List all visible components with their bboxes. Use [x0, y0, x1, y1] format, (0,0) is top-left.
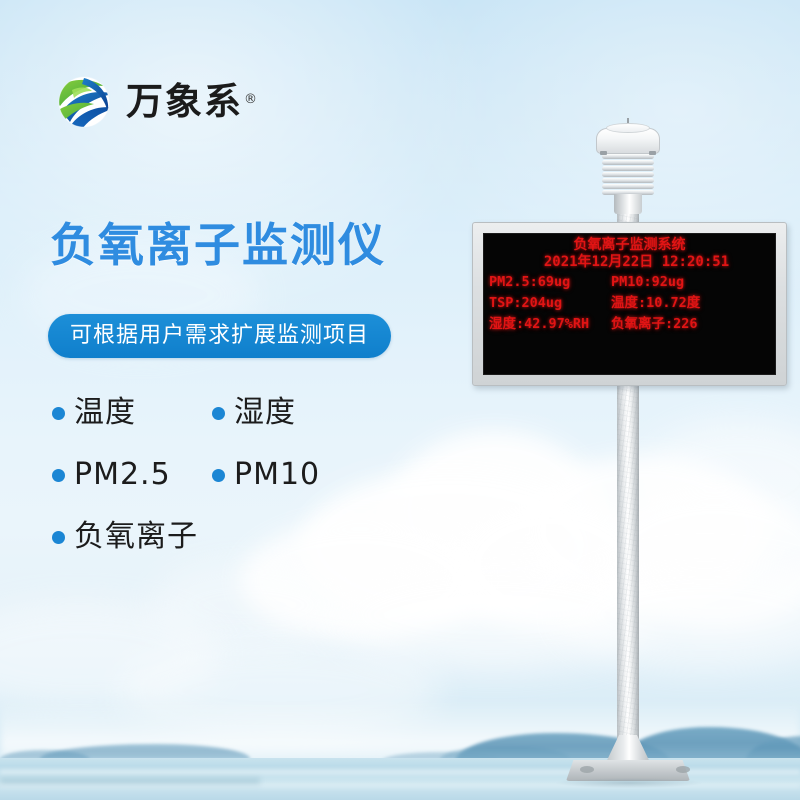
radiation-shield-sensor-icon	[592, 118, 664, 210]
reading-pm10: PM10:92ug	[611, 273, 771, 292]
sensor-neck	[614, 194, 642, 214]
page-title: 负氧离子监测仪	[50, 216, 386, 274]
brand-logo: 万象系 ®	[54, 72, 243, 132]
bullet-dot-icon	[52, 469, 65, 482]
feature-label: 温度	[74, 395, 136, 431]
reading-tsp: TSP:204ug	[489, 294, 611, 313]
louver-plate	[602, 172, 654, 177]
feature-item-temperature: 温度	[52, 395, 212, 431]
feature-item-negative-oxygen-ions: 负氧离子	[52, 519, 212, 555]
base-shadow	[556, 778, 702, 788]
louver-plate	[602, 184, 654, 189]
sensor-screw	[649, 151, 656, 155]
sensor-cap-top	[606, 123, 650, 133]
display-readings-grid: PM2.5:69ug PM10:92ug TSP:204ug 温度:10.72度…	[489, 273, 771, 336]
display-datetime: 2021年12月22日 12:20:51	[484, 254, 775, 270]
louver-plate	[602, 166, 654, 171]
display-reading-row: TSP:204ug 温度:10.72度	[489, 294, 771, 315]
louver-plate	[602, 178, 654, 183]
led-display-screen: 负氧离子监测系统 2021年12月22日 12:20:51 PM2.5:69ug…	[483, 233, 776, 375]
feature-row: PM2.5 PM10	[52, 444, 412, 506]
louver-plate	[602, 154, 654, 159]
feature-item-humidity: 湿度	[212, 395, 296, 431]
reading-temperature: 温度:10.72度	[611, 294, 771, 313]
bullet-dot-icon	[52, 407, 65, 420]
marketing-copy-panel: 万象系 ® 负氧离子监测仪 可根据用户需求扩展监测项目 温度 湿度 PM2.5	[0, 0, 470, 800]
display-reading-row: PM2.5:69ug PM10:92ug	[489, 273, 771, 294]
display-title: 负氧离子监测系统	[484, 237, 775, 253]
brand-name: 万象系 ®	[126, 80, 243, 124]
feature-list: 温度 湿度 PM2.5 PM10 负氧离子	[52, 382, 412, 568]
trademark-icon: ®	[244, 78, 259, 122]
bullet-dot-icon	[212, 407, 225, 420]
display-reading-row: 湿度:42.97%RH 负氧离子:226	[489, 315, 771, 336]
feature-label: PM10	[234, 457, 320, 493]
brand-name-text: 万象系	[126, 80, 243, 123]
globe-swirl-icon	[54, 72, 114, 132]
feature-item-pm25: PM2.5	[52, 457, 212, 493]
feature-row: 负氧离子	[52, 506, 412, 568]
feature-label: 湿度	[234, 395, 296, 431]
subtitle-text: 可根据用户需求扩展监测项目	[70, 323, 369, 349]
subtitle-badge: 可根据用户需求扩展监测项目	[48, 314, 391, 358]
sensor-louver-plates	[602, 154, 654, 196]
reading-negative-oxygen-ions: 负氧离子:226	[611, 315, 771, 334]
feature-label: PM2.5	[74, 457, 171, 493]
base-bolt-hole	[580, 766, 594, 773]
feature-row: 温度 湿度	[52, 382, 412, 444]
louver-plate	[602, 160, 654, 165]
feature-label: 负氧离子	[74, 519, 198, 555]
bullet-dot-icon	[52, 531, 65, 544]
bullet-dot-icon	[212, 469, 225, 482]
sensor-screw	[600, 151, 607, 155]
base-bolt-hole	[676, 766, 690, 773]
reading-humidity: 湿度:42.97%RH	[489, 315, 611, 334]
feature-item-pm10: PM10	[212, 457, 320, 493]
reading-pm25: PM2.5:69ug	[489, 273, 611, 292]
